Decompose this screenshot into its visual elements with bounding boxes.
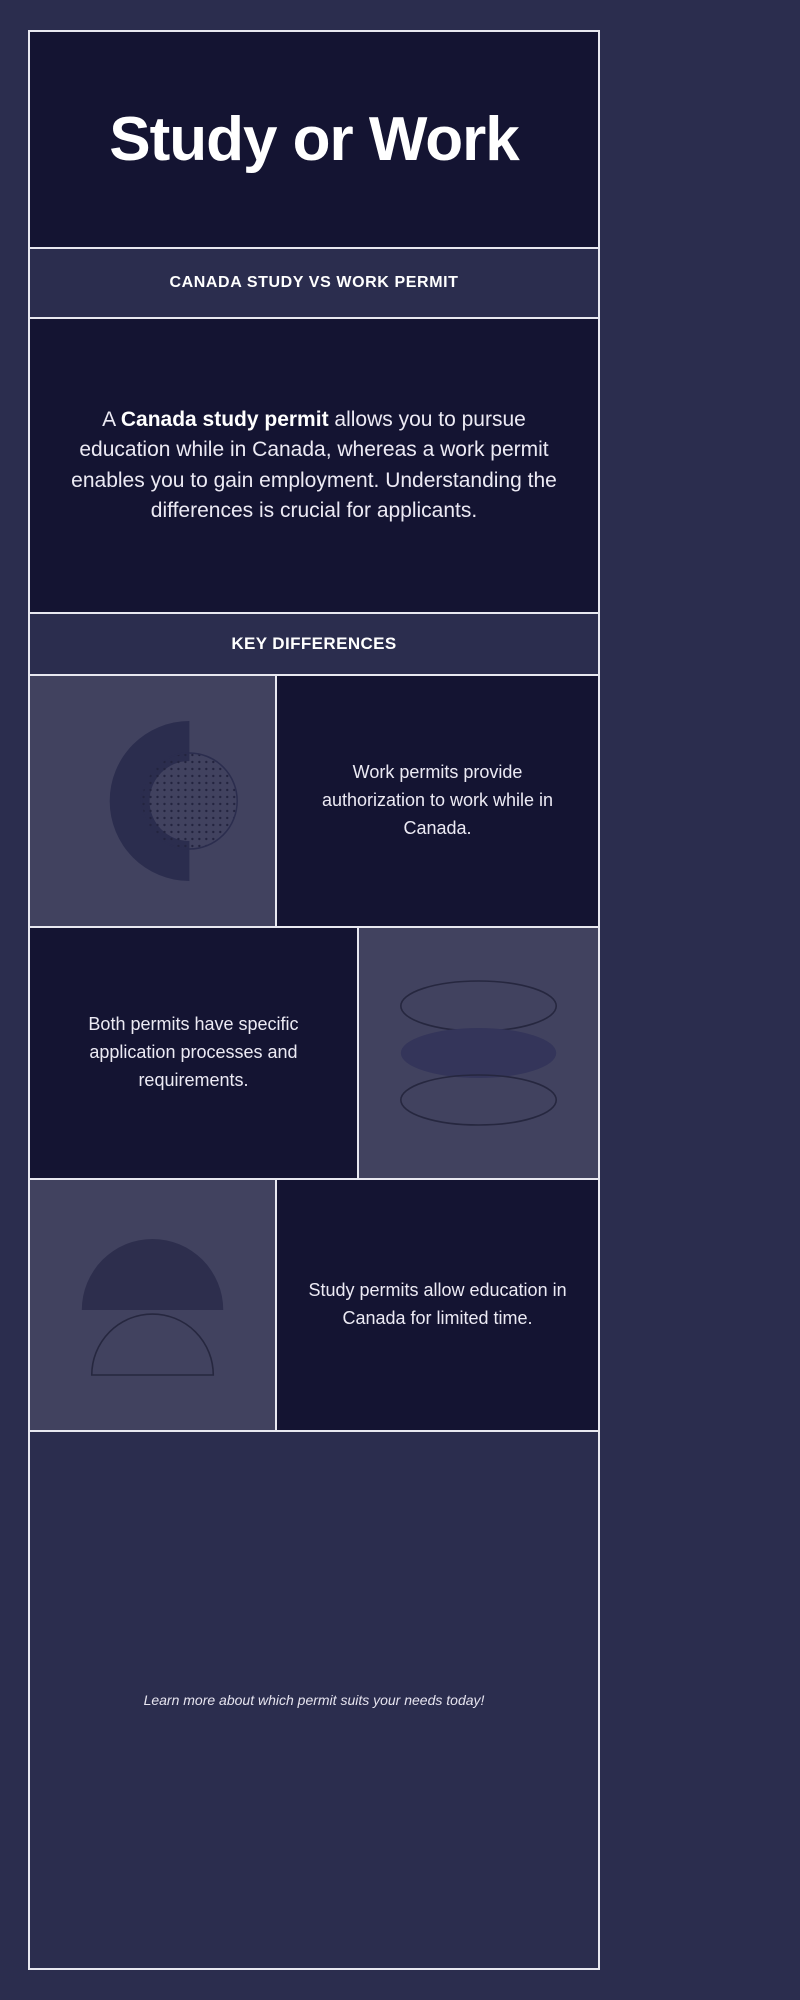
comparison-row: Study permits allow education in Canada … [30,1180,598,1430]
footer-tail: ! [481,1692,485,1708]
domes-icon [30,1180,275,1430]
lead-paragraph: A Canada study permit allows you to purs… [60,405,568,527]
lead-bold: Canada study permit [121,408,329,431]
row-text-cell: Work permits provide authorization to wo… [277,676,598,926]
page-title: Study or Work [109,109,519,171]
half-ring-icon [30,676,275,926]
row-text-cell: Study permits allow education in Canada … [277,1180,598,1430]
hero-section: Study or Work [30,32,598,247]
footer-section: Learn more about which permit suits your… [30,1432,598,1968]
footer-italic: Learn more about which permit suits your… [144,1692,481,1708]
row-text: Both permits have specific application p… [56,1011,331,1095]
kicker-bar: CANADA STUDY VS WORK PERMIT [30,249,598,317]
row-text-cell: Both permits have specific application p… [30,928,357,1178]
section-header-bar: KEY DIFFERENCES [30,614,598,674]
half-ring-with-dotted-circle-graphic [30,676,275,926]
kicker-label: CANADA STUDY VS WORK PERMIT [169,274,458,292]
row-text: Work permits provide authorization to wo… [303,759,572,843]
footer-cta: Learn more about which permit suits your… [144,1692,485,1708]
lead-section: A Canada study permit allows you to purs… [30,319,598,612]
stacked-domes-graphic [30,1180,275,1430]
infographic-poster: Study or Work CANADA STUDY VS WORK PERMI… [28,30,600,1970]
stacked-ellipses-graphic [359,928,598,1178]
row-text: Study permits allow education in Canada … [303,1277,572,1333]
lead-before: A [102,408,121,431]
comparison-row: Both permits have specific application p… [30,928,598,1178]
ellipses-icon [359,928,598,1178]
comparison-row: Work permits provide authorization to wo… [30,676,598,926]
section-header-label: KEY DIFFERENCES [231,634,396,654]
